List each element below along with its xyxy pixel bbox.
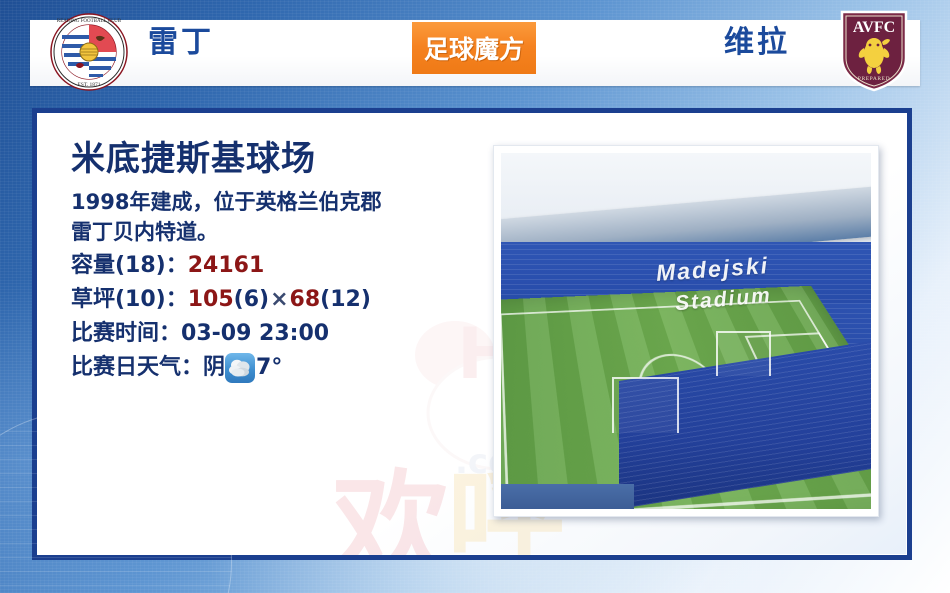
stadium-info-page: READING FOOTBALL CLUB EST. 1871 雷丁 足球魔方 … bbox=[0, 0, 950, 593]
photo-goal-near bbox=[612, 377, 679, 432]
capacity-row: 容量(18)：24161 bbox=[71, 250, 491, 282]
stadium-description-line-2: 雷丁贝内特道。 bbox=[71, 218, 491, 248]
reading-fc-badge: READING FOOTBALL CLUB EST. 1871 bbox=[50, 13, 128, 91]
stadium-info-card: H H .com 欢 呼 米底捷斯基球场 1998年建成，位于英格兰伯克郡 雷丁… bbox=[32, 108, 912, 560]
away-team-name: 维拉 bbox=[724, 28, 790, 58]
pitch-length-rank: (6) bbox=[234, 287, 269, 312]
aston-villa-badge: AVFC PREPARED bbox=[838, 8, 910, 94]
pitch-label: 草坪(10)： bbox=[71, 287, 188, 312]
badge-initials: AVFC bbox=[853, 19, 895, 36]
madejski-stadium-photo: Madejski Stadium bbox=[501, 153, 871, 509]
badge-ring-text-top: READING FOOTBALL CLUB bbox=[57, 19, 122, 24]
weather-label: 比赛日天气： bbox=[71, 352, 203, 384]
photo-bottom-barrier bbox=[501, 484, 634, 509]
site-logo[interactable]: 足球魔方 bbox=[412, 22, 536, 74]
match-time-value: 03-09 23:00 bbox=[181, 321, 329, 346]
pitch-width-rank: (12) bbox=[320, 287, 371, 312]
pitch-row: 草坪(10)：105(6)×68(12) bbox=[71, 284, 491, 316]
home-team-name: 雷丁 bbox=[148, 28, 214, 58]
match-time-label: 比赛时间： bbox=[71, 321, 181, 346]
match-weather-row: 比赛日天气：阴 7° bbox=[71, 352, 491, 384]
stadium-description-line-1: 1998年建成，位于英格兰伯克郡 bbox=[71, 188, 491, 218]
badge-ring-text-bottom: EST. 1871 bbox=[77, 82, 100, 88]
capacity-label: 容量(18)： bbox=[71, 253, 188, 278]
pitch-length: 105 bbox=[188, 287, 234, 312]
stadium-info-text: 米底捷斯基球场 1998年建成，位于英格兰伯克郡 雷丁贝内特道。 容量(18)：… bbox=[71, 141, 491, 384]
cloudy-icon bbox=[225, 353, 255, 383]
capacity-value: 24161 bbox=[188, 253, 265, 278]
pitch-multiply-symbol: × bbox=[269, 287, 289, 312]
match-time-row: 比赛时间：03-09 23:00 bbox=[71, 318, 491, 350]
photo-goal-far bbox=[716, 331, 772, 376]
pitch-width: 68 bbox=[290, 287, 321, 312]
weather-condition: 阴 bbox=[203, 352, 225, 384]
site-logo-text: 足球魔方 bbox=[424, 30, 524, 66]
weather-temperature: 7° bbox=[256, 352, 282, 384]
stadium-title: 米底捷斯基球场 bbox=[71, 141, 491, 178]
badge-motto: PREPARED bbox=[858, 76, 890, 82]
stadium-photo-frame[interactable]: Madejski Stadium bbox=[493, 145, 879, 517]
